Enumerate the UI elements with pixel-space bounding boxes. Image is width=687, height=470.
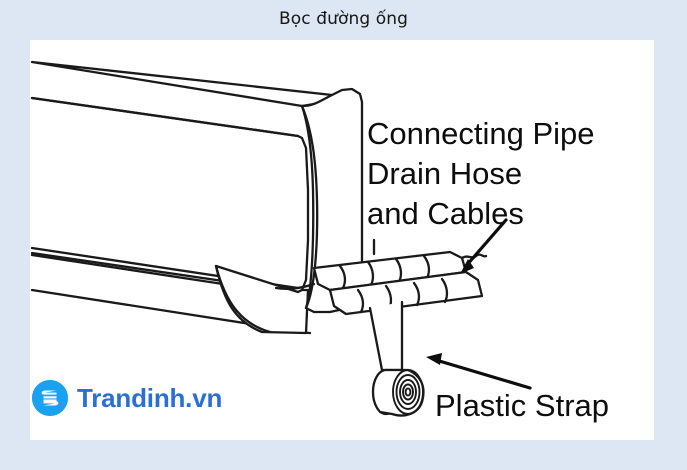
- indoor-unit-air-outlet: [216, 266, 308, 333]
- unit-top-face: [32, 62, 332, 106]
- site-watermark: Trandinh.vn: [32, 380, 222, 416]
- trandinh-circle-logo-icon: [32, 380, 68, 416]
- logo-s-shape: [42, 391, 59, 406]
- strap-callout-arrow: [426, 353, 530, 388]
- strap-callout-shaft: [436, 360, 530, 388]
- strap-callout-head: [426, 353, 442, 365]
- unit-front-face: [32, 98, 308, 292]
- strap-tail: [370, 302, 402, 370]
- figure-title: Bọc đường ống: [0, 8, 687, 30]
- screenshot-root: Bọc đường ống: [0, 0, 687, 470]
- label-plastic-strap: Plastic Strap: [435, 388, 609, 423]
- logo-glyph: [32, 380, 68, 416]
- label-connecting-pipe: Connecting Pipe: [367, 116, 595, 151]
- label-and-cables: and Cables: [367, 196, 524, 231]
- brand-name-text: Trandinh.vn: [77, 383, 222, 414]
- plastic-strap-roll: [370, 302, 423, 416]
- label-drain-hose: Drain Hose: [367, 156, 522, 191]
